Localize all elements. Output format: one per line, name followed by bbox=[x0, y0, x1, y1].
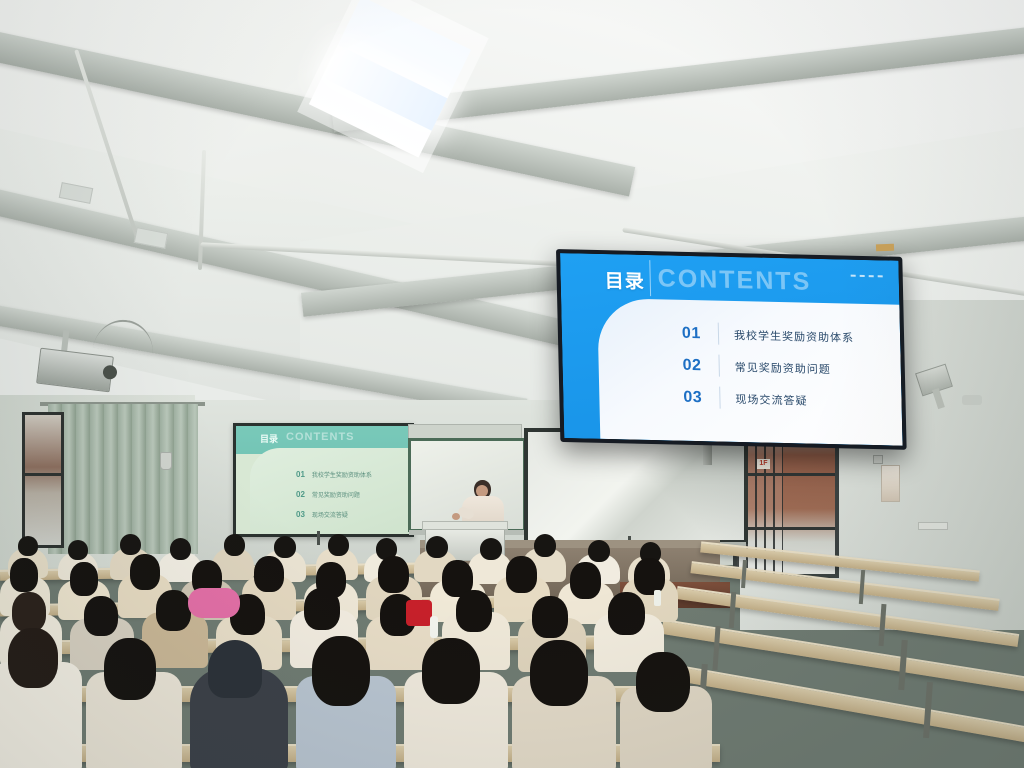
projected-item-num: 02 bbox=[296, 490, 305, 499]
red-bag bbox=[406, 600, 432, 626]
wall-poster bbox=[881, 465, 900, 502]
ceiling-projector bbox=[36, 348, 114, 393]
slide-toc-item: 02 常见奖励资助问题 bbox=[682, 350, 887, 387]
wall-bracket bbox=[962, 395, 982, 405]
toc-item-text: 我校学生奖励资助体系 bbox=[734, 327, 854, 346]
slide-heading-cn: 目录 bbox=[604, 266, 645, 294]
tv-corner-tag bbox=[876, 244, 894, 252]
wall-speaker-icon bbox=[160, 452, 172, 470]
screen-stand bbox=[317, 531, 320, 545]
floor-sign: 1F bbox=[757, 459, 770, 469]
slide-toc-list: 01 我校学生奖励资助体系 02 常见奖励资助问题 03 现场交流答疑 bbox=[682, 318, 888, 419]
slide-heading-en: CONTENTS bbox=[657, 264, 811, 296]
presentation-slide: 目录 CONTENTS 01 我校学生奖励资助体系 02 常见奖励资助问题 bbox=[560, 253, 902, 446]
wall-camera-icon bbox=[873, 455, 883, 464]
water-bottle bbox=[654, 590, 661, 606]
toc-item-text: 常见奖励资助问题 bbox=[735, 359, 831, 377]
projected-item-num: 01 bbox=[296, 470, 305, 479]
lecture-hall-photo: 1F 目录 CONTENTS 01我校学生奖励资助体系 02常见奖励资助问题 0… bbox=[0, 0, 1024, 768]
slide-heading-divider bbox=[649, 260, 651, 296]
toc-item-number: 01 bbox=[682, 325, 716, 344]
projected-item-text: 我校学生奖励资助体系 bbox=[312, 473, 372, 479]
student-pink-jacket bbox=[188, 588, 240, 618]
projection-screen: 目录 CONTENTS 01我校学生奖励资助体系 02常见奖励资助问题 03现场… bbox=[233, 423, 414, 537]
projected-heading-en: CONTENTS bbox=[286, 431, 355, 443]
water-bottle bbox=[430, 616, 438, 638]
left-window bbox=[22, 412, 64, 548]
toc-item-number: 03 bbox=[683, 389, 717, 408]
wall-mounted-tv: 目录 CONTENTS 01 我校学生奖励资助体系 02 常见奖励资助问题 bbox=[556, 249, 907, 450]
projected-item-num: 03 bbox=[296, 510, 305, 519]
projected-item-text: 现场交流答疑 bbox=[312, 513, 348, 519]
window-curtain bbox=[48, 404, 198, 554]
toc-item-number: 02 bbox=[682, 357, 716, 376]
projected-item-text: 常见奖励资助问题 bbox=[312, 493, 360, 499]
slide-dots-decoration bbox=[851, 275, 883, 278]
projected-heading-cn: 目录 bbox=[260, 432, 278, 445]
slide-toc-item: 01 我校学生奖励资助体系 bbox=[682, 318, 887, 355]
projector-lens bbox=[102, 364, 118, 380]
slide-toc-item: 03 现场交流答疑 bbox=[683, 382, 888, 419]
toc-item-text: 现场交流答疑 bbox=[735, 391, 807, 409]
wall-plate bbox=[918, 522, 948, 530]
